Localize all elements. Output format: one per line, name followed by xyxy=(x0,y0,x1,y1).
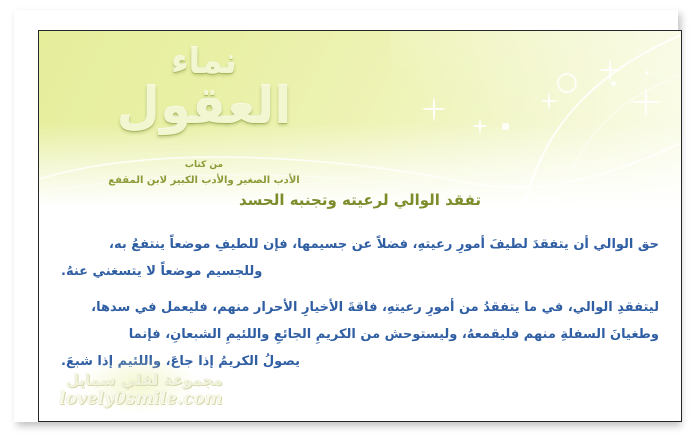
card-mat: نماء العقول من كتاب الأدب الصغير والأدب … xyxy=(14,10,678,422)
logo-line-1: نماء xyxy=(39,45,369,79)
page-title: تفقد الوالي لرعيته وتجنبه الحسد xyxy=(57,191,663,209)
logo-subtitle-source: الأدب الصغير والأدب الكبير لابن المقفع xyxy=(39,173,369,188)
logo-subtitle-label: من كتاب xyxy=(39,159,369,173)
paragraph-1: حق الوالي أن يتفقدَ لطيفَ أمورِ رعيتهِ، … xyxy=(61,231,659,285)
paragraph-2: ليتفقدِ الوالي، في ما يتفقدُ من أمورِ رع… xyxy=(61,294,659,375)
screenshot-root: نماء العقول من كتاب الأدب الصغير والأدب … xyxy=(0,0,692,442)
brand-logo: نماء العقول xyxy=(39,45,369,131)
sparkle-dot-icon xyxy=(502,123,509,130)
article-body: حق الوالي أن يتفقدَ لطيفَ أمورِ رعيتهِ، … xyxy=(61,231,659,375)
body-line: وطغيانَ السفلةِ منهم فليقمعهُ، وليستوحش … xyxy=(61,321,659,348)
sparkle-dot-icon xyxy=(611,81,616,86)
body-line: حق الوالي أن يتفقدَ لطيفَ أمورِ رعيتهِ، … xyxy=(61,231,659,258)
logo-subtitle: من كتاب الأدب الصغير والأدب الكبير لابن … xyxy=(39,159,369,188)
body-line: وللجسيم موضعاً لا يتسغني عنهُ. xyxy=(61,258,659,285)
sparkle-dot-icon xyxy=(645,71,649,75)
card-header: نماء العقول من كتاب الأدب الصغير والأدب … xyxy=(39,31,681,207)
card-frame: نماء العقول من كتاب الأدب الصغير والأدب … xyxy=(38,30,682,422)
footer-watermark: مجموعة لفلي سمايل lovely0smile.com xyxy=(59,371,223,409)
footer-site-label: lovely0smile.com xyxy=(59,389,223,409)
logo-line-2: العقول xyxy=(39,81,369,131)
body-line: ليتفقدِ الوالي، في ما يتفقدُ من أمورِ رع… xyxy=(61,294,659,321)
sparkle-ring-icon xyxy=(557,73,577,93)
card-content: lovely0smile.com تفقد الوالي لرعيته وتجن… xyxy=(39,207,681,421)
body-line: يصولُ الكريمُ إذا جاعَ، واللئيم إذا شبعَ… xyxy=(61,348,659,375)
